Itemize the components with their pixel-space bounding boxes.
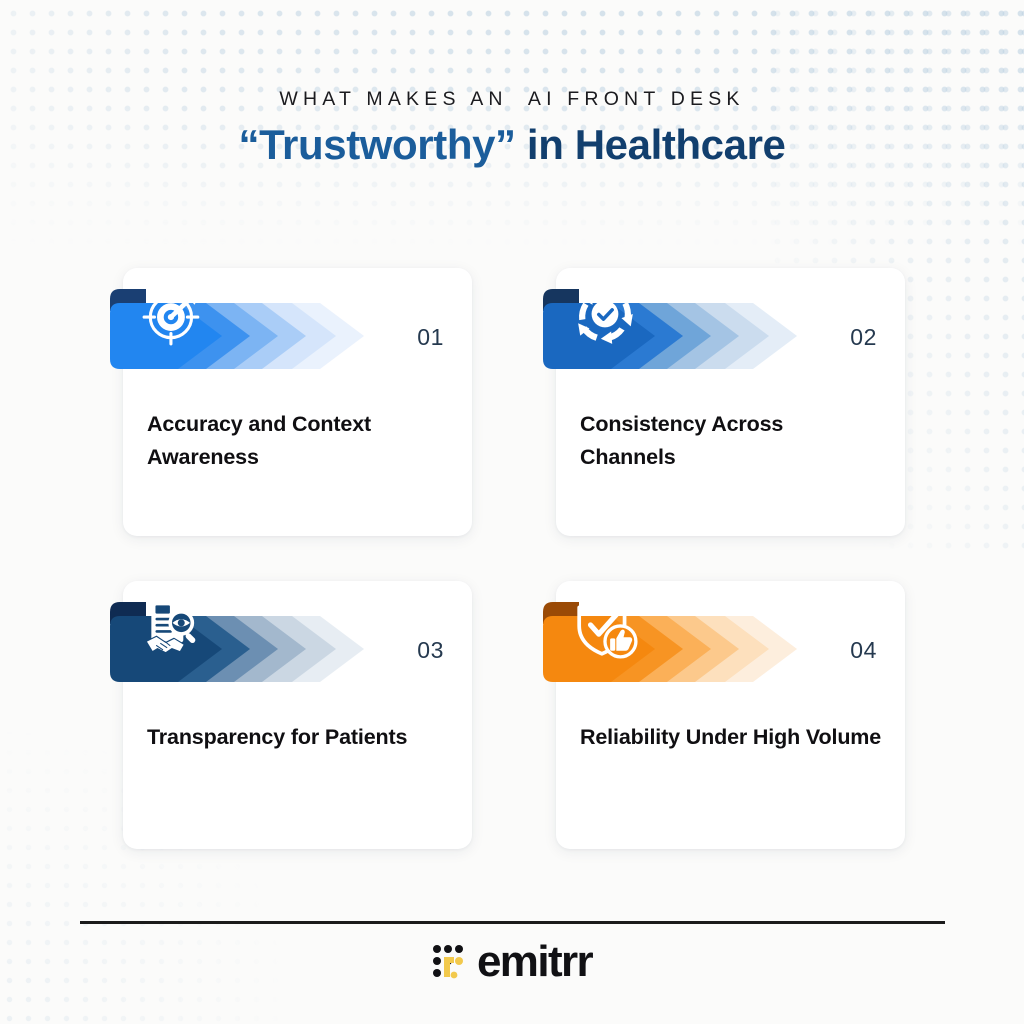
page-title: “Trustworthy” in Healthcare	[0, 121, 1024, 168]
page-title-rest: in Healthcare	[516, 121, 786, 168]
infographic-page: WHAT MAKES AN AI FRONT DESK “Trustworthy…	[0, 0, 1024, 1024]
target-arrow-icon	[140, 282, 206, 348]
card-title: Accuracy and Context Awareness	[147, 408, 450, 473]
brand-logo[interactable]: emitrr	[432, 940, 592, 984]
card-number: 01	[417, 324, 444, 351]
card-04[interactable]: 04 Reliability Under High Volume	[556, 581, 905, 849]
card-title: Transparency for Patients	[147, 721, 450, 754]
card-03[interactable]: 03 Transparency for Patients	[123, 581, 472, 849]
footer-divider	[80, 921, 945, 924]
card-number: 04	[850, 637, 877, 664]
card-title: Reliability Under High Volume	[580, 721, 883, 754]
card-02[interactable]: 02 Consistency Across Channels	[556, 268, 905, 536]
card-title: Consistency Across Channels	[580, 408, 883, 473]
shield-check-thumbsup-icon	[573, 595, 639, 661]
emitrr-dot-mark-icon	[432, 942, 466, 982]
card-number: 02	[850, 324, 877, 351]
card-number: 03	[417, 637, 444, 664]
document-magnifier-handshake-icon	[140, 595, 206, 661]
footer: emitrr	[0, 940, 1024, 984]
header-kicker: WHAT MAKES AN AI FRONT DESK	[0, 88, 1024, 111]
page-title-quoted: “Trustworthy”	[239, 121, 516, 168]
cards-grid: 01 Accuracy and Context Awareness	[123, 268, 905, 849]
brand-name: emitrr	[477, 940, 592, 984]
card-01[interactable]: 01 Accuracy and Context Awareness	[123, 268, 472, 536]
header: WHAT MAKES AN AI FRONT DESK “Trustworthy…	[0, 88, 1024, 168]
refresh-check-icon	[573, 282, 639, 348]
